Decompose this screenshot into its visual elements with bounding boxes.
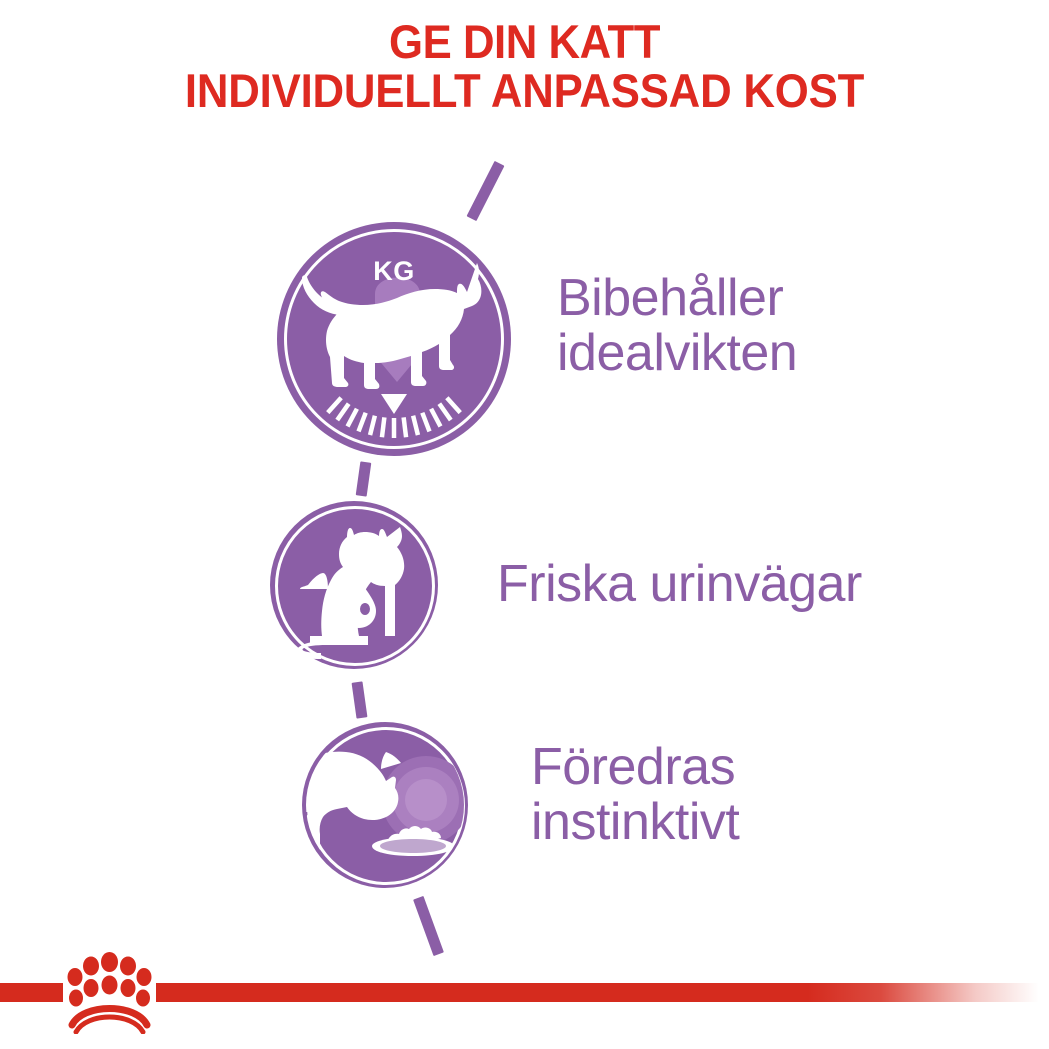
cat-eating-from-bowl-icon bbox=[302, 722, 468, 888]
brand-bar bbox=[0, 983, 1049, 1002]
feature-item-palatability: Föredras instinktivt bbox=[0, 0, 1049, 1049]
royal-canin-crown-icon bbox=[63, 946, 156, 1034]
royal-canin-logo bbox=[63, 946, 156, 1034]
badge-cat-eating bbox=[302, 722, 468, 888]
feature-label-palatability: Föredras instinktivt bbox=[531, 740, 961, 850]
product-benefits-infographic: GE DIN KATT INDIVIDUELLT ANPASSAD KOST K… bbox=[0, 0, 1049, 1049]
